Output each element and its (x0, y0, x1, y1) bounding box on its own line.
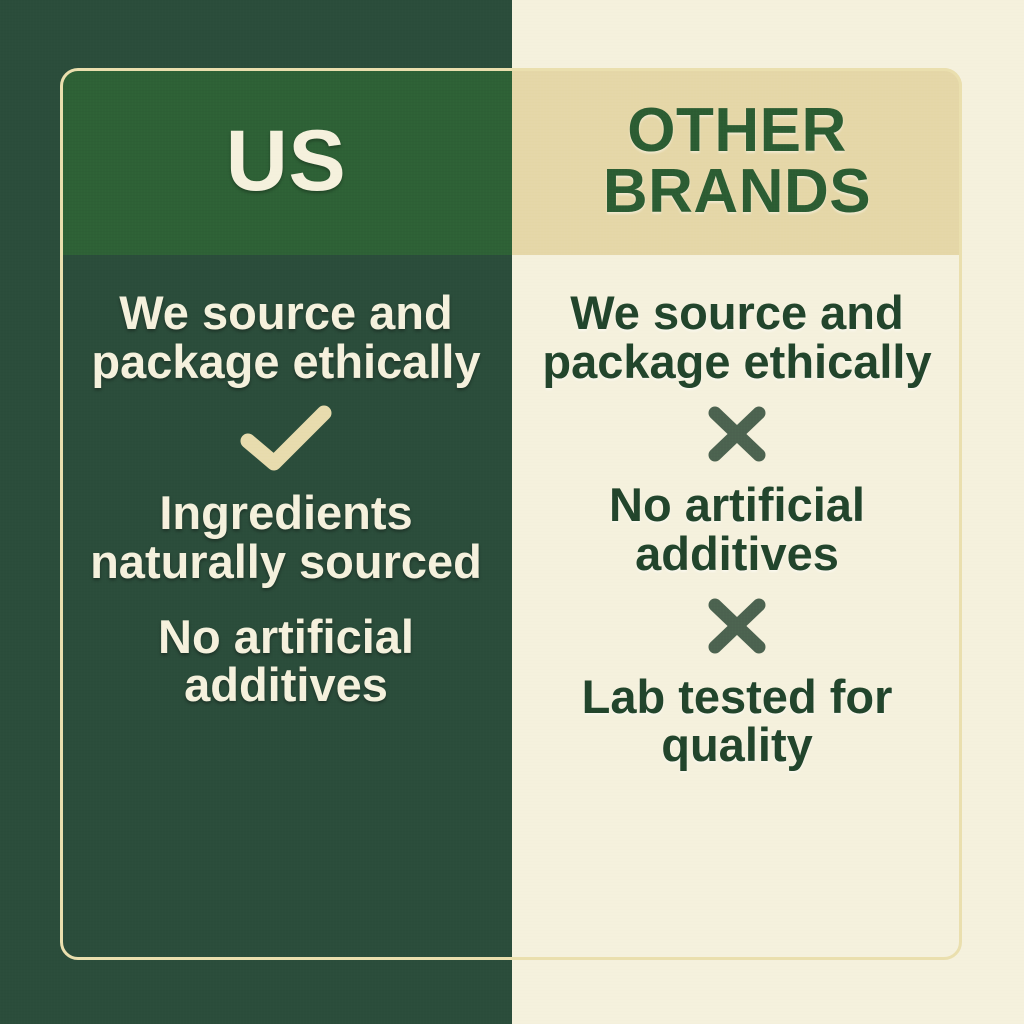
cross-icon (702, 401, 772, 467)
feature-item: Ingredients naturally sourced (60, 489, 512, 587)
column-title-other-brands: OTHER BRANDS (603, 101, 871, 223)
check-icon (234, 401, 338, 475)
feature-item: We source and package ethically (512, 289, 962, 387)
comparison-graphic: US OTHER BRANDS We source and package et… (0, 0, 1024, 1024)
comparison-card: US OTHER BRANDS We source and package et… (60, 68, 962, 960)
card-header-row: US OTHER BRANDS (60, 68, 962, 255)
feature-item: Lab tested for quality (512, 673, 962, 771)
column-header-us: US (60, 68, 512, 255)
column-header-other-brands: OTHER BRANDS (512, 68, 962, 255)
card-body-row: We source and package ethically Ingredie… (60, 255, 962, 960)
column-body-us: We source and package ethically Ingredie… (60, 255, 512, 960)
column-title-line-1: OTHER (603, 101, 871, 162)
cross-icon (702, 593, 772, 659)
column-title-us: US (226, 119, 346, 203)
column-title-line-2: BRANDS (603, 162, 871, 223)
feature-item: We source and package ethically (60, 289, 512, 387)
column-body-other-brands: We source and package ethically No artif… (512, 255, 962, 960)
feature-item: No artificial additives (60, 613, 512, 711)
feature-item: No artificial additives (512, 481, 962, 579)
